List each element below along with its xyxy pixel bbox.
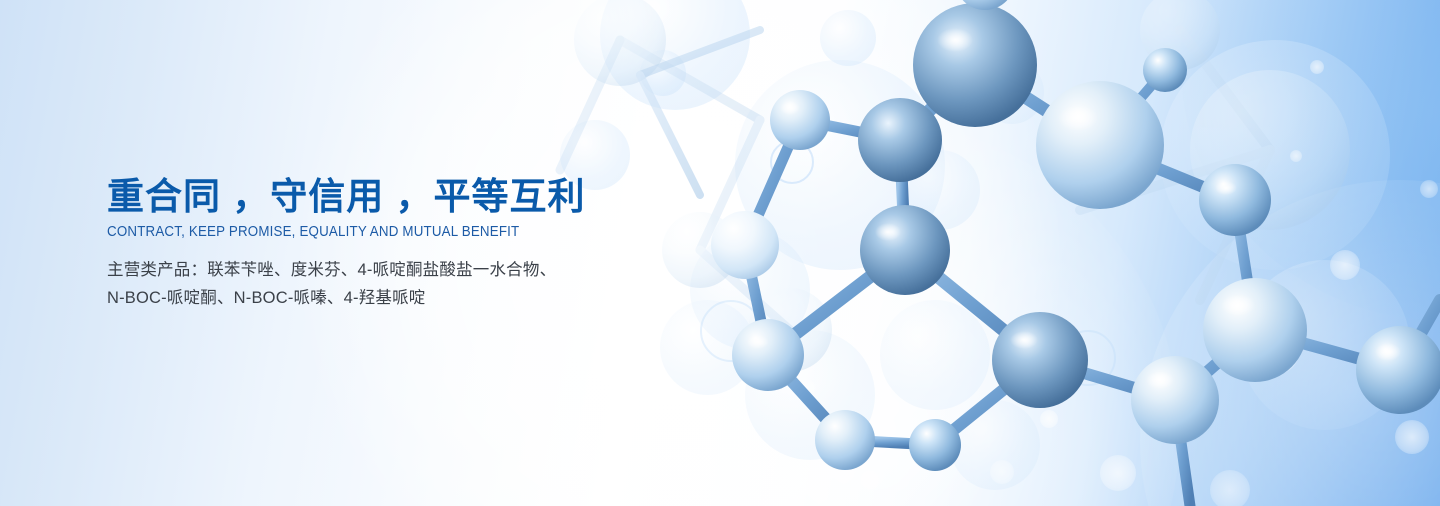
banner-headline: 重合同 ，守信用 ，平等互利 (107, 176, 727, 219)
hero-banner: 重合同 ，守信用 ，平等互利 CONTRACT, KEEP PROMISE, E… (0, 0, 1440, 506)
description-line-2: N-BOC-哌啶酮、N-BOC-哌嗪、4-羟基哌啶 (107, 284, 727, 312)
banner-subheadline: CONTRACT, KEEP PROMISE, EQUALITY AND MUT… (107, 224, 677, 240)
description-line-1: 主营类产品：联苯苄唑、度米芬、4-哌啶酮盐酸盐一水合物、 (107, 256, 727, 284)
molecule-node (770, 90, 830, 150)
banner-description: 主营类产品：联苯苄唑、度米芬、4-哌啶酮盐酸盐一水合物、 N-BOC-哌啶酮、N… (107, 256, 727, 313)
banner-text-block: 重合同 ，守信用 ，平等互利 CONTRACT, KEEP PROMISE, E… (107, 176, 727, 312)
